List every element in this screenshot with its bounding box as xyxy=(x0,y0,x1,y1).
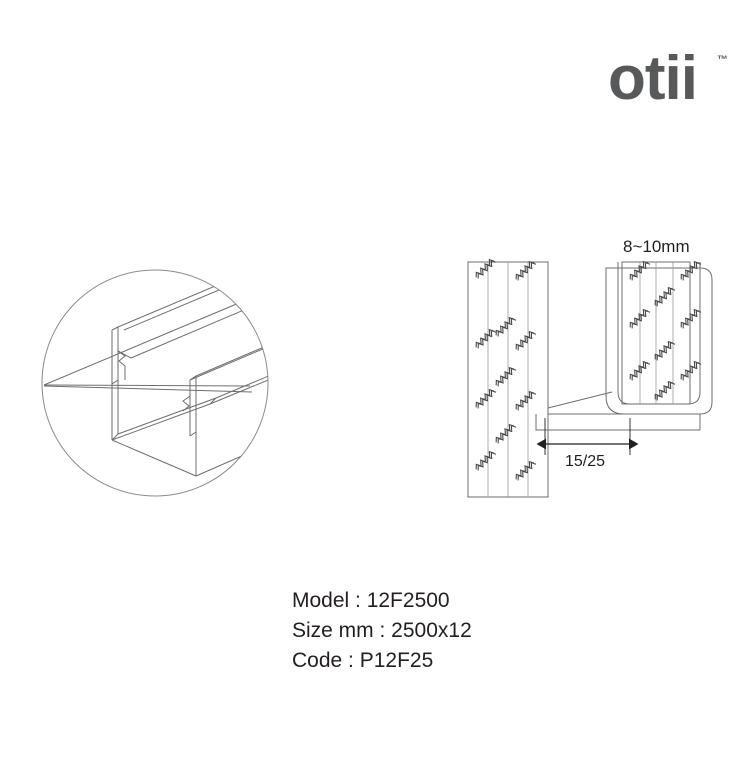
dimension-glass-thickness: 8~10mm xyxy=(623,237,690,256)
spec-line-model: Model : 12F2500 xyxy=(292,586,622,616)
dimension-label-fin-length: 15/25 xyxy=(565,453,605,470)
spec-block: Model : 12F2500 Size mm : 2500x12 Code :… xyxy=(292,586,622,676)
dimension-fin-length: 15/25 xyxy=(545,418,630,470)
section-view-group: 8~10mm 15/25 xyxy=(468,237,712,497)
glass-panel-horizontal xyxy=(622,259,703,404)
glass-panel-vertical xyxy=(468,257,548,497)
detail-view-profile-isometric xyxy=(44,268,287,476)
detail-view-group xyxy=(42,268,287,496)
detail-view-circle xyxy=(42,270,268,496)
spec-line-code: Code : P12F25 xyxy=(292,646,622,676)
dimension-label-thickness: 8~10mm xyxy=(623,237,690,256)
glass-hatch-marks-horizontal xyxy=(626,259,703,401)
spec-line-size: Size mm : 2500x12 xyxy=(292,616,622,646)
